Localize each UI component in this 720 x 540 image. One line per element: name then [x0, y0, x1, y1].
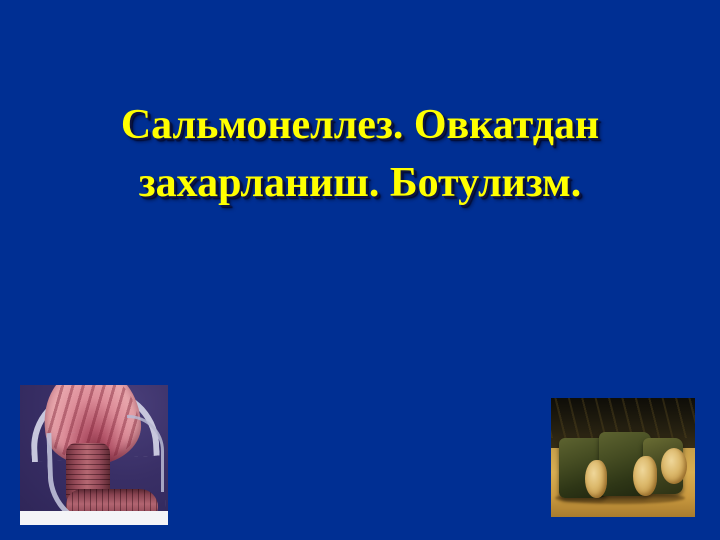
title-line-1: Сальмонеллез. Овкатдан	[30, 96, 690, 154]
food-photo-image	[551, 398, 695, 517]
title-line-2: захарланиш. Ботулизм.	[30, 154, 690, 212]
slide-title: Сальмонеллез. Овкатдан захарланиш. Ботул…	[30, 96, 690, 212]
food-filling	[585, 460, 607, 498]
food-filling	[661, 448, 687, 484]
image-bottom-white-strip	[20, 511, 168, 525]
stomach-illustration-image	[20, 385, 168, 525]
presentation-slide: Сальмонеллез. Овкатдан захарланиш. Ботул…	[0, 0, 720, 540]
food-filling	[633, 456, 657, 496]
